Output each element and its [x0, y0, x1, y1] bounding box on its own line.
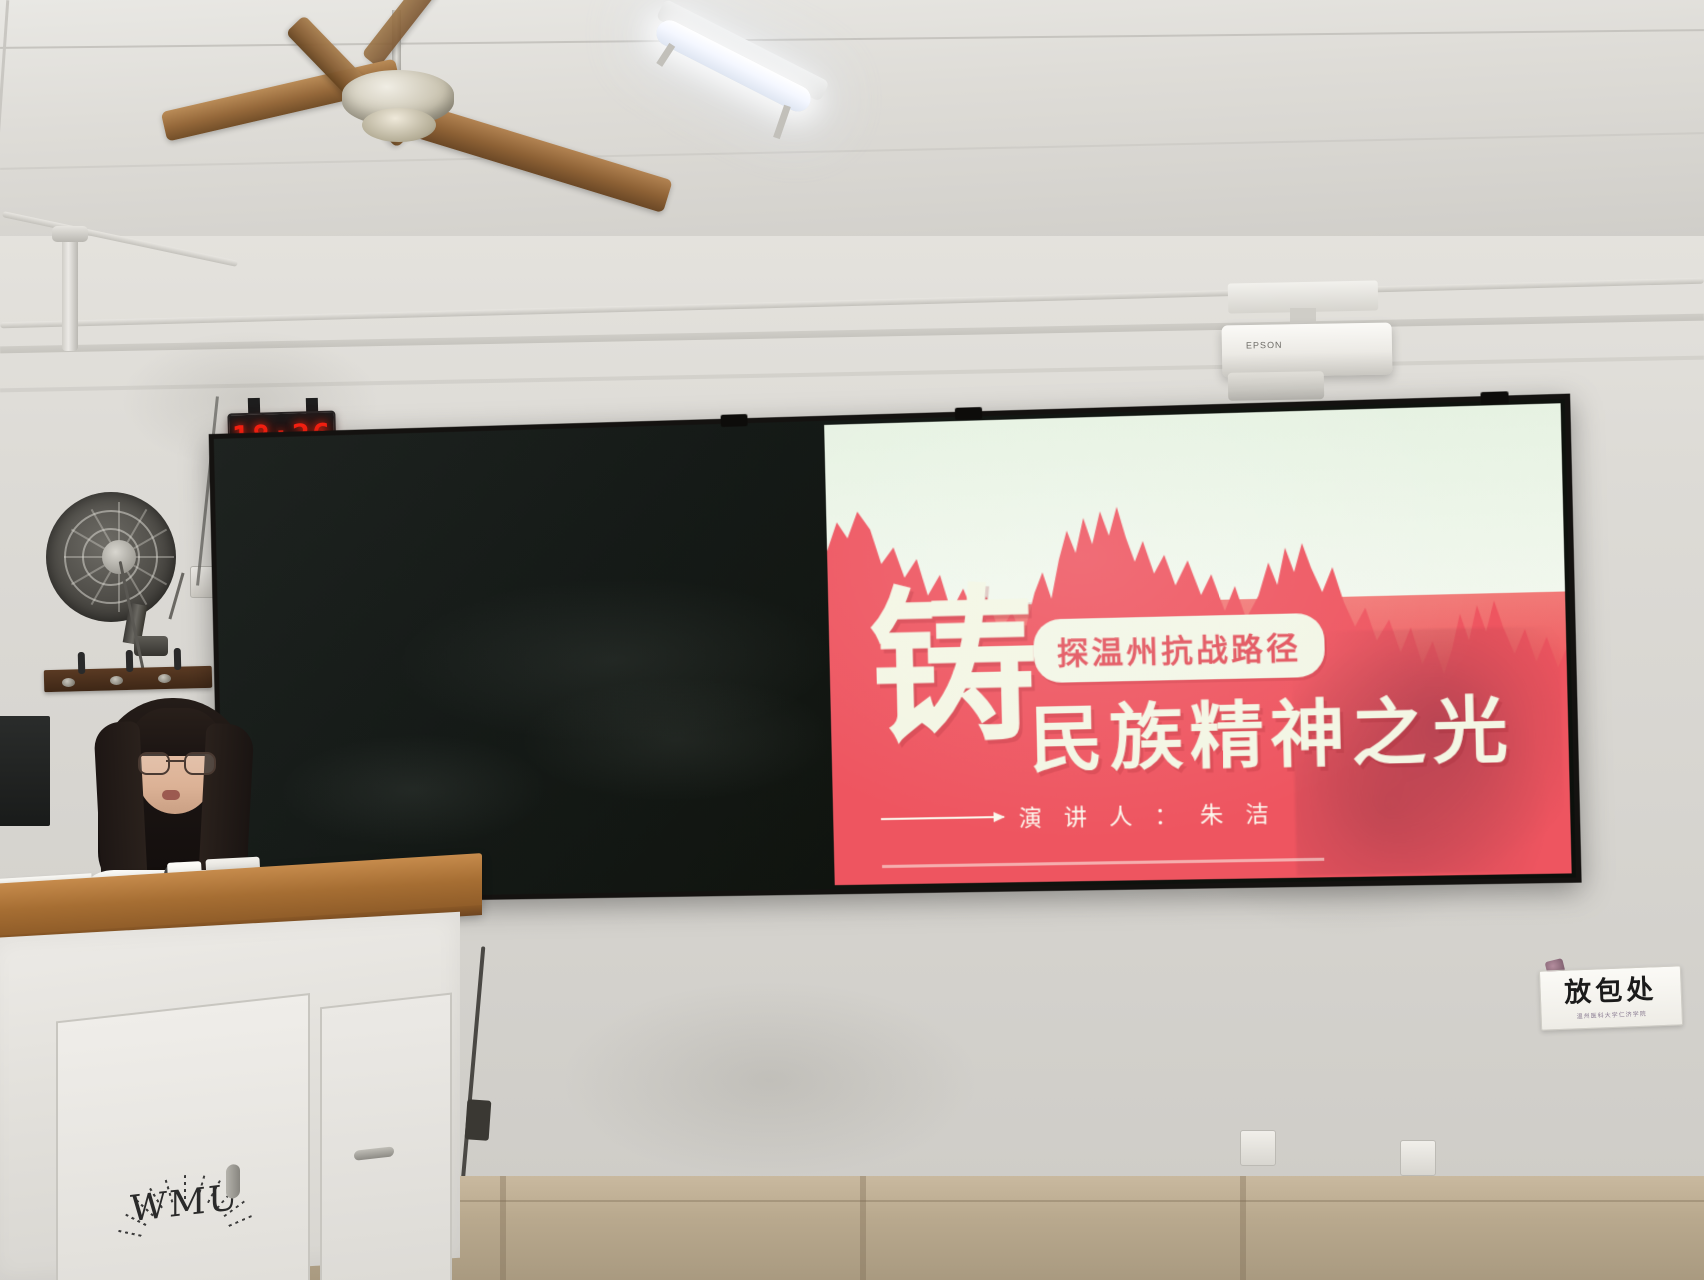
bag-drop-sign: 放包处 温州医科大学仁济学院 [1539, 965, 1683, 1030]
podium-cabinet: WMU [0, 912, 460, 1280]
classroom-scene: EPSON 18:26 [0, 0, 1704, 1280]
slide-subtitle: 民族精神之光 [1028, 673, 1515, 787]
light-stem [773, 105, 791, 139]
wall-pipe-cap [52, 226, 88, 242]
coat-hook-icon[interactable] [78, 652, 86, 674]
floor-seam [1240, 1176, 1246, 1280]
wall-socket[interactable] [1240, 1130, 1276, 1166]
slide-main-character: 铸 [867, 583, 1040, 752]
wall-socket[interactable] [1400, 1140, 1436, 1176]
coat-hook-cap [158, 674, 171, 683]
wall-pipe [62, 236, 78, 351]
podium-door-right[interactable] [320, 992, 452, 1280]
fan-hub [102, 540, 136, 574]
fan-guard-cage [46, 492, 176, 622]
slide-speaker-row: 演 讲 人 ： 朱 洁 [881, 796, 1277, 836]
floor-seam [380, 1200, 1704, 1202]
coat-hook-cap [110, 676, 123, 685]
podium-handle[interactable] [226, 1164, 240, 1200]
wall-stain [560, 980, 980, 1180]
projector-lens-housing [1228, 371, 1324, 401]
bag-drop-sign-subtext: 温州医科大学仁济学院 [1576, 1008, 1646, 1020]
board-clip [1480, 391, 1508, 404]
projector-brand-label: EPSON [1246, 339, 1306, 350]
bag-drop-sign-text: 放包处 [1564, 976, 1658, 1007]
floor-seam [860, 1176, 866, 1280]
presenter-mouth [162, 790, 180, 800]
board-clip [721, 414, 748, 427]
coat-hook-icon[interactable] [174, 648, 182, 670]
arrow-icon [881, 816, 1004, 820]
coat-hook-icon[interactable] [126, 650, 134, 672]
floor-seam [500, 1176, 506, 1280]
left-dark-panel [0, 716, 50, 826]
board-clip [955, 407, 982, 420]
glasses-icon [138, 752, 212, 772]
wall-mounted-fan [38, 492, 188, 652]
wmu-logo: WMU [90, 1096, 280, 1257]
slide-badge-tagline: 探温州抗战路径 [1033, 613, 1325, 683]
projected-slide: 铸 探温州抗战路径 民族精神之光 演 讲 人 ： 朱 洁 [824, 403, 1572, 885]
blackboard-and-projection-screen: 铸 探温州抗战路径 民族精神之光 演 讲 人 ： 朱 洁 [209, 394, 1582, 904]
slide-speaker-label: 演 讲 人 ： 朱 洁 [1018, 796, 1276, 833]
fan-hub [362, 108, 436, 142]
fan-blade [361, 0, 452, 68]
blackboard-surface: 铸 探温州抗战路径 民族精神之光 演 讲 人 ： 朱 洁 [214, 399, 1576, 899]
lectern-podium: WMU [0, 884, 490, 1280]
coat-hook-cap [62, 678, 75, 687]
